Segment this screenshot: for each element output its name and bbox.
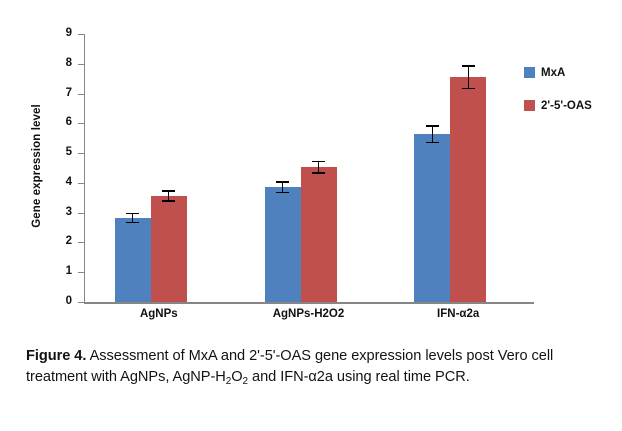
- y-axis-tick-label: 5: [46, 146, 72, 158]
- bar-mxa[interactable]: [414, 134, 450, 302]
- y-axis-tick-label-wrap: 3: [42, 213, 72, 214]
- y-axis-title: Gene expression level: [31, 66, 43, 266]
- error-bar-line: [432, 125, 433, 143]
- figure-panel: Gene expression level 0123456789 AgNPsAg…: [0, 0, 622, 431]
- y-axis-tick-label-wrap: 2: [42, 242, 72, 243]
- bar-group: [115, 34, 187, 302]
- legend-label-mxa: MxA: [541, 67, 565, 79]
- legend-label-oas: 2'-5'-OAS: [541, 100, 592, 112]
- y-axis-tick-label: 4: [46, 176, 72, 188]
- error-bar-cap-bottom: [312, 172, 325, 174]
- caption-text-2: O: [231, 369, 242, 385]
- figure-caption: Figure 4. Assessment of MxA and 2'-5'-OA…: [26, 346, 606, 389]
- y-axis-tick-label-wrap: 7: [42, 94, 72, 95]
- y-axis-tick-label: 1: [46, 265, 72, 277]
- x-axis-line: [84, 302, 534, 304]
- caption-text-3: and IFN-α2a using real time PCR.: [248, 369, 470, 385]
- error-bar-cap-top: [426, 125, 439, 127]
- y-axis-tick-label-wrap: 1: [42, 272, 72, 273]
- legend-item-oas: 2'-5'-OAS: [524, 99, 620, 112]
- error-bar-cap-top: [312, 161, 325, 163]
- y-axis-tick-label: 2: [46, 235, 72, 247]
- legend-swatch-oas: [524, 100, 535, 111]
- x-axis-tick-label: AgNPs: [84, 308, 234, 320]
- error-bar: [414, 125, 450, 143]
- bar-mxa[interactable]: [265, 187, 301, 302]
- error-bar: [115, 213, 151, 224]
- plot-area: [84, 34, 533, 302]
- y-axis-tick-label-wrap: 9: [42, 34, 72, 35]
- error-bar: [151, 190, 187, 202]
- y-axis-tick-label-wrap: 4: [42, 183, 72, 184]
- x-axis-tick-label: IFN-α2a: [383, 308, 533, 320]
- y-axis-tick-label-wrap: 6: [42, 123, 72, 124]
- legend-item-mxa: MxA: [524, 66, 620, 79]
- y-axis-tick-label-wrap: 8: [42, 64, 72, 65]
- bar-oas[interactable]: [450, 77, 486, 302]
- y-axis-tick-label: 6: [46, 116, 72, 128]
- bar-group: [414, 34, 486, 302]
- error-bar-cap-bottom: [126, 222, 139, 224]
- error-bar: [265, 181, 301, 193]
- error-bar: [301, 161, 337, 174]
- x-axis-tick-label: AgNPs-H2O2: [234, 308, 384, 320]
- bar-oas[interactable]: [301, 167, 337, 302]
- bar-oas[interactable]: [151, 196, 187, 302]
- y-axis-tick-label: 3: [46, 206, 72, 218]
- y-axis-tick-label-wrap: 0: [42, 302, 72, 303]
- y-axis-tick-label: 7: [46, 87, 72, 99]
- bar-chart: Gene expression level 0123456789 AgNPsAg…: [0, 0, 622, 336]
- error-bar-cap-bottom: [276, 192, 289, 194]
- y-axis-tick-label: 8: [46, 57, 72, 69]
- error-bar-cap-bottom: [462, 88, 475, 90]
- error-bar-cap-bottom: [426, 142, 439, 144]
- error-bar-cap-top: [126, 213, 139, 215]
- error-bar-cap-top: [162, 190, 175, 192]
- y-axis-tick-label-wrap: 5: [42, 153, 72, 154]
- error-bar-cap-top: [276, 181, 289, 183]
- caption-figure-number: Figure 4.: [26, 348, 86, 364]
- y-axis-tick-label: 0: [46, 295, 72, 307]
- y-axis-tick-label: 9: [46, 27, 72, 39]
- error-bar: [450, 65, 486, 89]
- error-bar-cap-bottom: [162, 200, 175, 202]
- chart-legend: MxA 2'-5'-OAS: [524, 66, 620, 132]
- legend-swatch-mxa: [524, 67, 535, 78]
- bar-mxa[interactable]: [115, 218, 151, 302]
- y-axis-tick-mark: [78, 302, 84, 303]
- error-bar-cap-top: [462, 65, 475, 67]
- bar-group: [265, 34, 337, 302]
- error-bar-line: [468, 65, 469, 89]
